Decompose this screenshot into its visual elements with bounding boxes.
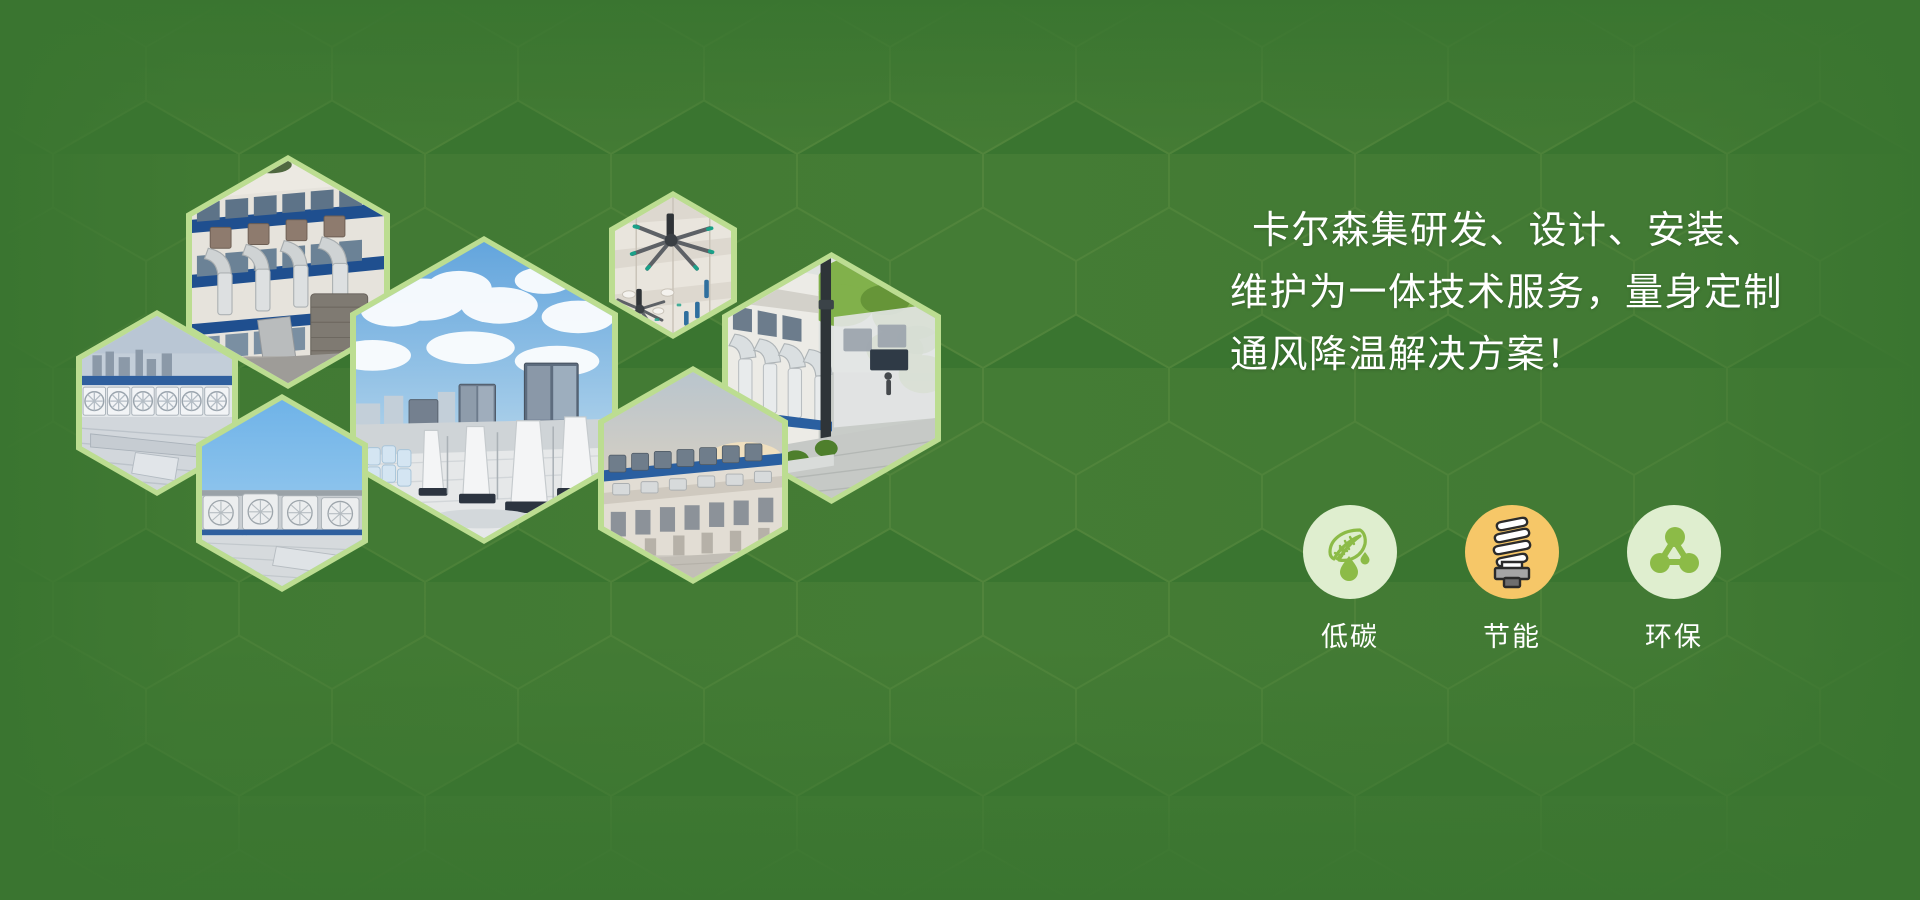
cfl-light-bulb-icon-disc [1465, 505, 1559, 599]
photo-workshop-hvls-fan-image [615, 197, 731, 333]
feature-energy-saving-label: 节能 [1462, 615, 1562, 654]
photo-pool-side-coolers-image [202, 400, 362, 586]
headline-line-2: 维护为一体技术服务，量身定制 [1230, 262, 1870, 324]
feature-eco-friendly[interactable]: 环保 [1624, 505, 1724, 654]
cfl-light-bulb-icon [1481, 516, 1543, 588]
hero-banner: 卡尔森集研发、设计、安装、 维护为一体技术服务，量身定制 通风降温解决方案！ 低… [0, 0, 1920, 900]
feature-energy-saving[interactable]: 节能 [1462, 505, 1562, 654]
leaf-water-drop-icon-disc [1303, 505, 1397, 599]
feature-low-carbon-label: 低碳 [1300, 615, 1400, 654]
feature-eco-friendly-label: 环保 [1624, 615, 1724, 654]
photo-factory-building-dusk-image [604, 372, 782, 578]
feature-low-carbon[interactable]: 低碳 [1300, 505, 1400, 654]
headline-block: 卡尔森集研发、设计、安装、 维护为一体技术服务，量身定制 通风降温解决方案！ [1230, 200, 1870, 386]
headline-line-1: 卡尔森集研发、设计、安装、 [1230, 200, 1870, 262]
molecule-eco-icon-disc [1627, 505, 1721, 599]
feature-list: 低碳 节能 [1300, 505, 1724, 654]
molecule-eco-icon [1645, 523, 1703, 581]
leaf-water-drop-icon [1320, 522, 1380, 582]
headline-line-3: 通风降温解决方案！ [1230, 324, 1870, 386]
